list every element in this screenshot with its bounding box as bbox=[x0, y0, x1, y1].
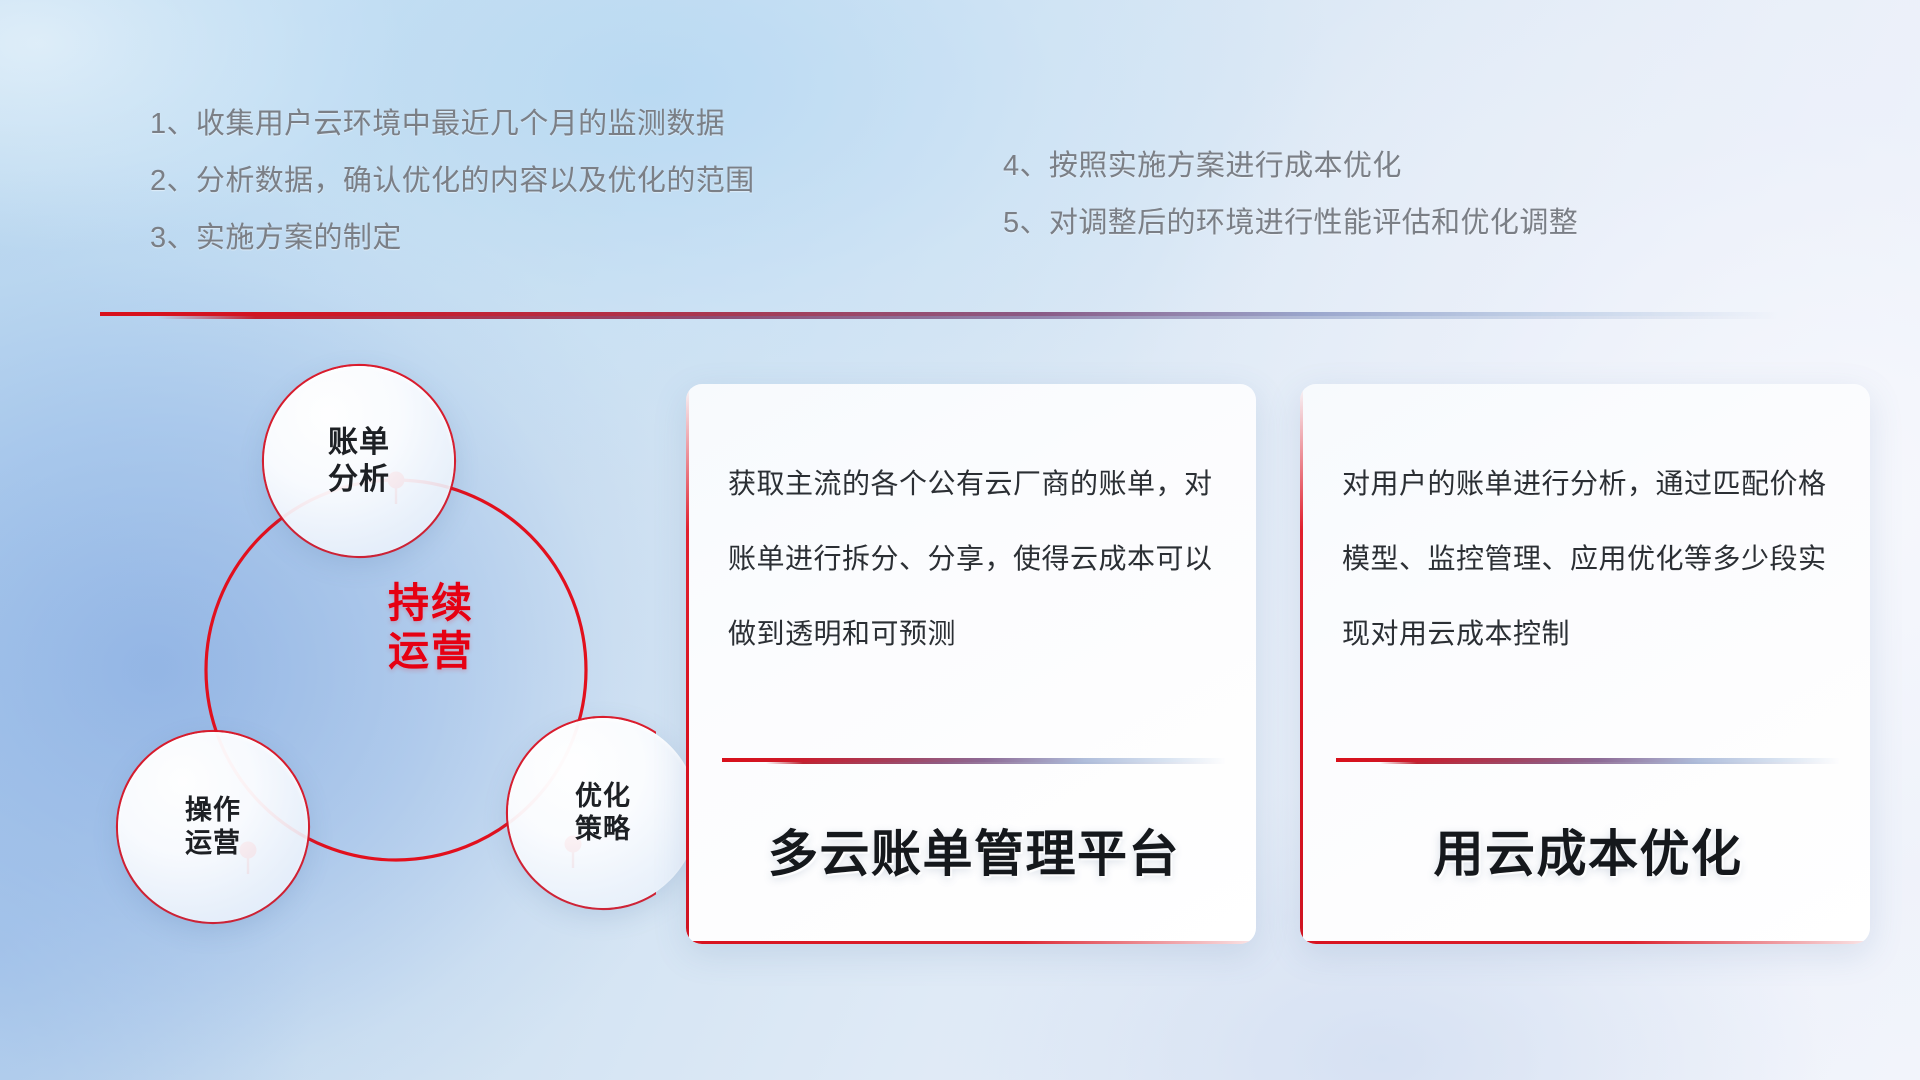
feature-card-1-body: 获取主流的各个公有云厂商的账单，对账单进行拆分、分享，使得云成本可以做到透明和可… bbox=[728, 446, 1220, 671]
venn-bubble-left-line1: 操作 bbox=[185, 795, 241, 825]
venn-bubble-top-line2: 分析 bbox=[328, 463, 390, 496]
venn-bubble-right-line1: 优化 bbox=[575, 781, 631, 811]
steps-list: 1、收集用户云环境中最近几个月的监测数据 2、分析数据，确认优化的内容以及优化的… bbox=[0, 96, 1920, 276]
feature-card-cloud-cost-optimization[interactable]: 对用户的账单进行分析，通过匹配价格模型、监控管理、应用优化等多少段实现对用云成本… bbox=[1300, 384, 1870, 944]
venn-bubble-right-line2: 策略 bbox=[575, 814, 631, 844]
feature-card-multicloud-billing[interactable]: 获取主流的各个公有云厂商的账单，对账单进行拆分、分享，使得云成本可以做到透明和可… bbox=[686, 384, 1256, 944]
section-divider-rule bbox=[100, 312, 1780, 319]
venn-bubble-right-label: 优化 策略 bbox=[575, 780, 631, 847]
feature-card-1-title: 多云账单管理平台 bbox=[722, 814, 1226, 886]
step-item-5: 5、对调整后的环境进行性能评估和优化调整 bbox=[1003, 195, 1578, 252]
venn-bubble-optimization-strategy[interactable]: 优化 策略 bbox=[508, 718, 698, 908]
step-item-3: 3、实施方案的制定 bbox=[150, 210, 755, 267]
steps-left-column: 1、收集用户云环境中最近几个月的监测数据 2、分析数据，确认优化的内容以及优化的… bbox=[150, 96, 755, 267]
step-item-2: 2、分析数据，确认优化的内容以及优化的范围 bbox=[150, 153, 755, 210]
feature-card-2-title: 用云成本优化 bbox=[1336, 814, 1840, 886]
venn-bubble-billing-analysis[interactable]: 账单 分析 bbox=[264, 366, 454, 556]
venn-bubble-top-line1: 账单 bbox=[328, 426, 390, 459]
venn-center-label-line1: 持续 bbox=[388, 580, 474, 626]
feature-card-2-divider bbox=[1336, 758, 1840, 764]
step-item-4: 4、按照实施方案进行成本优化 bbox=[1003, 138, 1578, 195]
feature-card-1-divider bbox=[722, 758, 1226, 764]
feature-card-1-divider-secondary bbox=[766, 762, 1226, 764]
venn-bubble-operations[interactable]: 操作 运营 bbox=[118, 732, 308, 922]
steps-right-column: 4、按照实施方案进行成本优化 5、对调整后的环境进行性能评估和优化调整 bbox=[1003, 138, 1578, 252]
step-item-1: 1、收集用户云环境中最近几个月的监测数据 bbox=[150, 96, 755, 153]
venn-bubble-top-label: 账单 分析 bbox=[328, 424, 390, 498]
venn-center-label-line2: 运营 bbox=[388, 628, 474, 674]
venn-center-label: 持续 运营 bbox=[331, 580, 531, 675]
venn-diagram: 账单 分析 操作 运营 优化 策略 持续 运营 bbox=[96, 352, 656, 952]
venn-bubble-left-line2: 运营 bbox=[185, 828, 241, 858]
feature-card-2-body: 对用户的账单进行分析，通过匹配价格模型、监控管理、应用优化等多少段实现对用云成本… bbox=[1342, 446, 1834, 671]
venn-bubble-left-label: 操作 运营 bbox=[185, 794, 241, 861]
divider-line-secondary bbox=[158, 316, 1780, 319]
feature-card-2-divider-secondary bbox=[1380, 762, 1840, 764]
